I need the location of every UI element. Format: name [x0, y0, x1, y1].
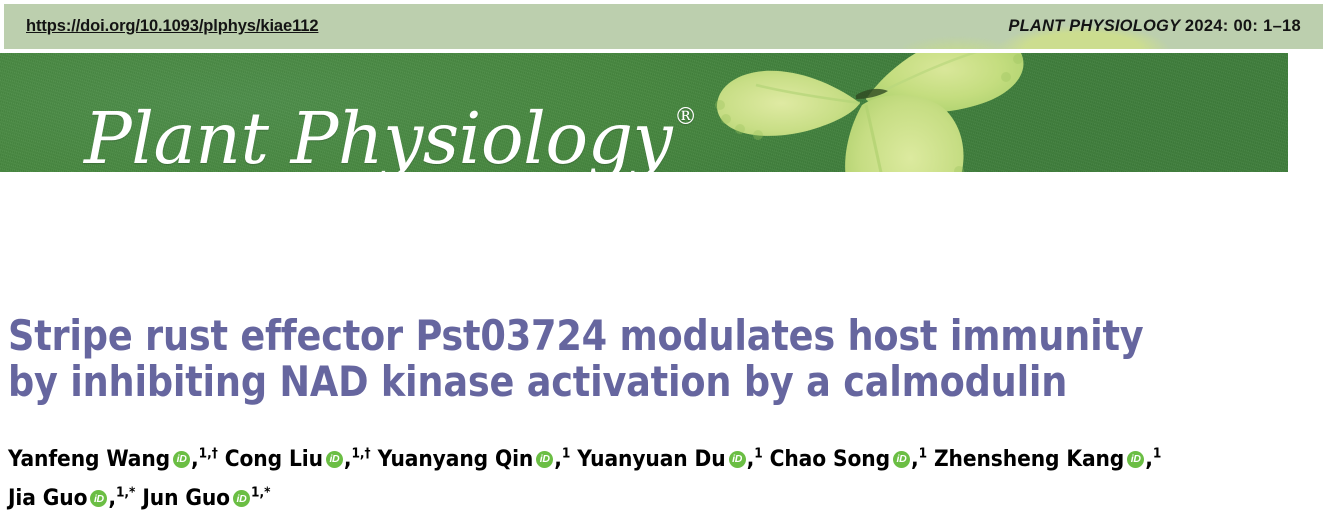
author-affiliation-marker[interactable]: 1,†: [351, 445, 370, 461]
author-affiliation-marker[interactable]: 1: [1153, 445, 1161, 461]
author-entry[interactable]: Jun Guo1,*: [142, 485, 270, 511]
author-line-1: Yanfeng Wang,1,† Cong Liu,1,† Yuanyang Q…: [8, 436, 1327, 476]
journal-name-text: PLANT PHYSIOLOGY: [1008, 17, 1180, 35]
author-entry[interactable]: Cong Liu,1,†: [225, 446, 371, 472]
author-affiliation-marker[interactable]: 1,†: [199, 445, 218, 461]
registered-trademark-icon: ®: [674, 104, 697, 130]
author-name[interactable]: Chao Song: [770, 446, 890, 472]
author-affiliation-marker[interactable]: 1: [919, 445, 927, 461]
author-name[interactable]: Yanfeng Wang: [8, 446, 170, 472]
orcid-icon[interactable]: [536, 451, 553, 468]
author-name[interactable]: Zhensheng Kang: [934, 446, 1124, 472]
author-entry[interactable]: Jia Guo,1,*: [8, 485, 135, 511]
orcid-icon[interactable]: [729, 451, 746, 468]
author-line-2: Jia Guo,1,* Jun Guo1,*: [8, 476, 1327, 513]
author-separator: ,: [554, 446, 562, 472]
author-list: Yanfeng Wang,1,† Cong Liu,1,† Yuanyang Q…: [8, 436, 1327, 513]
journal-masthead-title-text: Plant Physiology: [84, 97, 672, 172]
journal-citation-text: 2024: 00: 1–18: [1185, 17, 1301, 35]
orcid-icon[interactable]: [1127, 451, 1144, 468]
orcid-icon[interactable]: [90, 490, 107, 507]
author-separator: ,: [191, 446, 199, 472]
author-affiliation-marker[interactable]: 1,*: [251, 485, 270, 501]
orcid-icon[interactable]: [326, 451, 343, 468]
author-affiliation-marker[interactable]: 1: [754, 445, 762, 461]
orcid-icon[interactable]: [893, 451, 910, 468]
author-entry[interactable]: Yanfeng Wang,1,†: [8, 446, 218, 472]
author-name[interactable]: Cong Liu: [225, 446, 323, 472]
author-name[interactable]: Yuanyuan Du: [577, 446, 725, 472]
article-title-line-1: Stripe rust effector Pst03724 modulates …: [8, 313, 1287, 359]
author-name[interactable]: Jun Guo: [142, 485, 230, 511]
article-title-line-2: by inhibiting NAD kinase activation by a…: [8, 359, 1287, 405]
author-name[interactable]: Yuanyang Qin: [378, 446, 534, 472]
author-separator: ,: [1145, 446, 1153, 472]
orcid-icon[interactable]: [173, 451, 190, 468]
author-affiliation-marker[interactable]: 1: [562, 445, 570, 461]
journal-masthead-banner: Plant Physiology®: [0, 53, 1288, 172]
journal-citation: PLANT PHYSIOLOGY 2024: 00: 1–18: [1008, 17, 1301, 36]
author-entry[interactable]: Zhensheng Kang,1: [934, 446, 1161, 472]
doi-link[interactable]: https://doi.org/10.1093/plphys/kiae112: [26, 17, 318, 36]
author-entry[interactable]: Yuanyuan Du,1: [577, 446, 762, 472]
author-entry[interactable]: Yuanyang Qin,1: [378, 446, 571, 472]
running-head-bar: https://doi.org/10.1093/plphys/kiae112 P…: [0, 0, 1327, 49]
author-separator: ,: [108, 485, 116, 511]
article-title: Stripe rust effector Pst03724 modulates …: [8, 313, 1327, 405]
journal-masthead-title: Plant Physiology®: [84, 103, 695, 172]
author-affiliation-marker[interactable]: 1,*: [116, 485, 135, 501]
author-name[interactable]: Jia Guo: [8, 485, 87, 511]
orcid-icon[interactable]: [233, 490, 250, 507]
author-entry[interactable]: Chao Song,1: [770, 446, 927, 472]
trifoliate-leaf-photo: [660, 53, 1080, 172]
author-separator: ,: [911, 446, 919, 472]
article-first-page: https://doi.org/10.1093/plphys/kiae112 P…: [0, 0, 1327, 513]
